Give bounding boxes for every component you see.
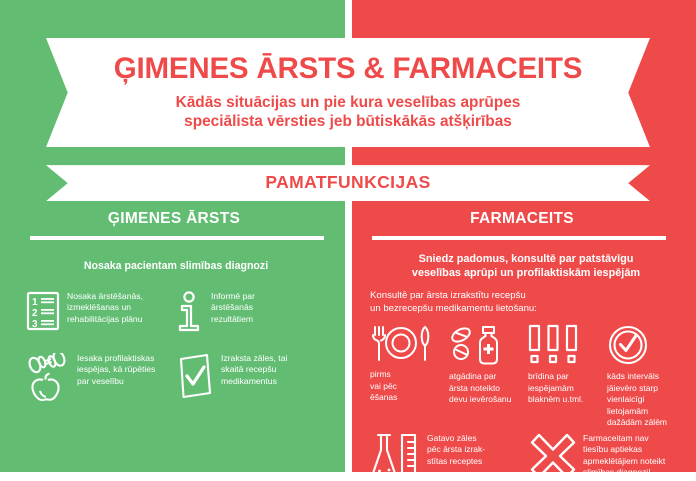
item-label-line2: jāievēro starp (607, 383, 658, 393)
item-label-line1: brīdina par (528, 371, 569, 381)
numbered-list-document-icon: 1 2 3 (26, 291, 60, 331)
column-right-sublead-line2: un bezrecepšu medikamentu lietošanu: (370, 303, 682, 315)
item-label-line3: blaknēm u.tml. (528, 394, 583, 404)
item-label-line3: stītas receptes (427, 456, 482, 466)
item-label-line4: slimības diagnozi! (583, 467, 651, 477)
item-label-line3: rezultātiem (211, 314, 253, 324)
item-label-line1: Gatavo zāles (427, 433, 477, 443)
item-label-line2: tiesību aptiekas (583, 444, 642, 454)
item-label-line5: dažādām zālēm (607, 417, 667, 427)
column-headers: ĢIMENES ĀRSTS FARMACEITS (0, 210, 696, 240)
page-subtitle-line2: speciālista vērsties jeb būtiskākās atšķ… (94, 112, 602, 131)
clock-checkmark-icon (607, 324, 651, 366)
svg-text:3: 3 (32, 319, 38, 330)
column-header-right: FARMACEITS (348, 210, 696, 240)
list-item-label: Izraksta zāles, tai skaitā recepšu medik… (221, 353, 287, 388)
flask-beaker-icon (370, 433, 420, 481)
column-left-items: 1 2 3 Nosaka ārstēšanās, (26, 291, 326, 423)
item-label-line2: izmeklēšanas un (67, 302, 131, 312)
item-label-line2: ārstēšanās (211, 302, 253, 312)
item-label-line2: pēc ārsta izrak- (427, 444, 485, 454)
item-label-line3: rehabilitācijas plānu (67, 314, 142, 324)
column-right-pharmacist: Sniedz padomus, konsultē par patstāvīgu … (348, 240, 696, 479)
section-ribbon: PAMATFUNKCIJAS (46, 165, 650, 201)
item-label-line4: lietojamām (607, 406, 648, 416)
list-item: brīdina par iespējamām blaknēm u.tml. (528, 324, 603, 429)
column-left-lead: Nosaka pacientam slimības diagnozi (26, 260, 326, 274)
svg-text:1: 1 (32, 297, 38, 308)
page-title: ĢIMENES ĀRSTS & FARMACEITS (86, 54, 610, 85)
list-item: kāds intervāls jāievēro starp vienlaicīg… (607, 324, 682, 429)
column-right-lead-line2: veselības aprūpi un profilaktiskām iespē… (370, 267, 682, 281)
list-item: atgādina par ārsta noteikto devu ievēroš… (449, 324, 524, 429)
list-item-label: Iesaka profilaktiskas iespējas, kā rūpēt… (77, 353, 155, 388)
list-item: Informē par ārstēšanās rezultātiem (176, 291, 326, 333)
item-label-line1: pirms (370, 369, 391, 379)
column-right-lead-line1: Sniedz padomus, konsultē par patstāvīgu (370, 253, 682, 267)
item-label-line3: vienlaicīgi (607, 394, 644, 404)
column-header-left: ĢIMENES ĀRSTS (0, 210, 348, 240)
list-item-label: kāds intervāls jāievēro starp vienlaicīg… (607, 371, 667, 429)
column-left-family-doctor: Nosaka pacientam slimības diagnozi 1 2 3 (0, 240, 348, 479)
item-label-line1: Izraksta zāles, tai (221, 353, 287, 363)
list-item-label: Farmaceitam nav tiesību aptiekas apmeklē… (583, 433, 665, 479)
item-label-line1: Informē par (211, 291, 255, 301)
column-right-lead: Sniedz padomus, konsultē par patstāvīgu … (370, 253, 682, 281)
item-label-line1: atgādina par (449, 371, 496, 381)
columns-body: Nosaka pacientam slimības diagnozi 1 2 3 (0, 240, 696, 479)
item-label-line3: medikamentus (221, 376, 277, 386)
list-item-label: Nosaka ārstēšanās, izmeklēšanas un rehab… (67, 291, 143, 326)
list-item-label: brīdina par iespējamām blaknēm u.tml. (528, 371, 583, 406)
title-ribbon: ĢIMENES ĀRSTS & FARMACEITS Kādās situāci… (46, 38, 650, 147)
list-item-label: Gatavo zāles pēc ārsta izrak- stītas rec… (427, 433, 485, 468)
page-subtitle: Kādās situācijas un pie kura veselības a… (86, 93, 610, 132)
list-item-label: atgādina par ārsta noteikto devu ievēroš… (449, 371, 511, 406)
column-right-sublead: Konsultē par ārsta izrakstītu recepšu un… (370, 290, 682, 315)
item-label-line2: skaitā recepšu (221, 364, 276, 374)
item-label-line2: iespējas, kā rūpēties (77, 364, 155, 374)
item-label-line3: ēšanas (370, 392, 397, 402)
column-right-sublead-line1: Konsultē par ārsta izrakstītu recepšu (370, 290, 682, 302)
section-banner-title: PAMATFUNKCIJAS (86, 172, 610, 193)
dumbbell-apple-icon (26, 353, 70, 403)
triple-exclamation-icon (528, 324, 584, 366)
list-item: Izraksta zāles, tai skaitā recepšu medik… (176, 353, 326, 403)
column-header-left-label: ĢIMENES ĀRSTS (0, 210, 348, 236)
list-item-label: pirms vai pēc ēšanas (370, 369, 397, 404)
item-label-line2: ārsta noteikto (449, 383, 500, 393)
svg-text:2: 2 (32, 308, 38, 319)
item-label-line3: apmeklētājiem noteikt (583, 456, 665, 466)
item-label-line3: par veselību (77, 376, 124, 386)
pills-medicine-bottle-icon (449, 324, 507, 366)
item-label-line1: Iesaka profilaktiskas (77, 353, 154, 363)
item-label-line1: kāds intervāls (607, 371, 659, 381)
column-header-right-label: FARMACEITS (348, 210, 696, 236)
list-item: Iesaka profilaktiskas iespējas, kā rūpēt… (26, 353, 176, 403)
infographic-poster: ĢIMENES ĀRSTS & FARMACEITS Kādās situāci… (0, 0, 696, 479)
plate-fork-knife-icon (370, 324, 432, 364)
item-label-line1: Nosaka ārstēšanās, (67, 291, 143, 301)
list-item: Gatavo zāles pēc ārsta izrak- stītas rec… (370, 433, 522, 481)
item-label-line3: devu ievērošanu (449, 394, 511, 404)
list-item: pirms vai pēc ēšanas (370, 324, 445, 429)
list-item-label: Informē par ārstēšanās rezultātiem (211, 291, 255, 326)
prescription-checkmark-icon (176, 353, 214, 399)
column-right-bottom-items: Gatavo zāles pēc ārsta izrak- stītas rec… (370, 433, 682, 481)
information-icon (176, 291, 204, 333)
item-label-line2: vai pēc (370, 381, 397, 391)
list-item: Farmaceitam nav tiesību aptiekas apmeklē… (530, 433, 682, 481)
cross-prohibition-icon (530, 433, 576, 479)
column-right-advice-items: pirms vai pēc ēšanas (370, 324, 682, 429)
list-item: 1 2 3 Nosaka ārstēšanās, (26, 291, 176, 333)
item-label-line2: iespējamām (528, 383, 574, 393)
item-label-line1: Farmaceitam nav (583, 433, 649, 443)
page-subtitle-line1: Kādās situācijas un pie kura veselības a… (94, 93, 602, 112)
